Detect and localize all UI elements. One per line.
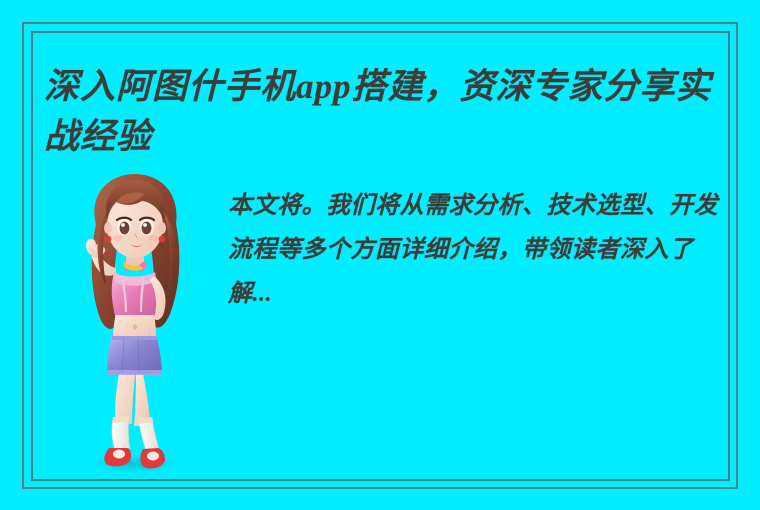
right-eye-glint — [143, 223, 147, 227]
article-excerpt: 本文将。我们将从需求分析、技术选型、开发流程等多个方面详细介绍，带领读者深入了解… — [228, 184, 728, 316]
left-earring — [105, 236, 112, 243]
page-title-text: 深入阿图什手机app搭建，资深专家分享实战经验 — [44, 67, 712, 156]
right-blush — [148, 235, 158, 241]
right-iris — [142, 222, 152, 235]
top-trim — [114, 272, 155, 286]
page-title: 深入阿图什手机app搭建，资深专家分享实战经验 — [44, 62, 744, 162]
right-ear — [158, 222, 166, 234]
article-excerpt-text: 本文将。我们将从需求分析、技术选型、开发流程等多个方面详细介绍，带领读者深入了解… — [228, 193, 718, 307]
left-shoe-detail — [113, 450, 125, 459]
anime-girl-character-illustration — [58, 172, 208, 477]
left-leg — [115, 368, 136, 424]
right-shoe-detail — [147, 452, 159, 461]
left-eye-glint — [121, 223, 125, 227]
left-blush — [113, 235, 123, 241]
article-card: 深入阿图什手机app搭建，资深专家分享实战经验 — [0, 0, 760, 510]
skirt-hem — [108, 370, 162, 375]
midriff — [113, 312, 156, 336]
navel — [133, 324, 137, 329]
right-earring — [159, 236, 166, 243]
left-iris — [120, 222, 130, 235]
right-leg — [134, 368, 150, 426]
left-ear — [104, 222, 112, 234]
